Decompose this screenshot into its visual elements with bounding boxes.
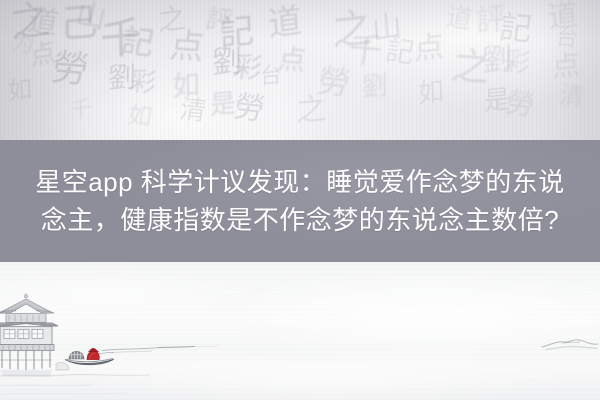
water-ripple-trail (100, 344, 230, 358)
calligraphy-glyph: 千 (70, 99, 93, 123)
calligraphy-glyph: 如 (126, 103, 154, 130)
calligraphy-glyph: 道 (443, 4, 474, 33)
calligraphy-glyph: 清 (558, 83, 586, 109)
lake-scene (0, 262, 600, 400)
title-band: 星空app 科学计议发现：睡觉爱作念梦的东说 念主，健康指数是不作念梦的东说念主… (0, 140, 600, 262)
calligraphy-glyph: 勞 (503, 89, 536, 120)
calligraphy-glyph: 道 (267, 4, 303, 43)
calligraphy-glyph: 点 (414, 33, 444, 66)
calligraphy-glyph: 勞 (231, 92, 267, 125)
calligraphy-glyph: 如 (8, 77, 33, 104)
calligraphy-glyph: 点 (168, 29, 207, 65)
calligraphy-glyph: 評 (203, 6, 234, 35)
calligraphy-glyph: 劉 (362, 73, 388, 101)
calligraphy-glyph: 清 (178, 97, 208, 125)
boat-passenger (69, 351, 84, 359)
boatman-red-robe (87, 348, 99, 359)
distant-shore (540, 330, 600, 354)
calligraphy-glyph: 点 (552, 51, 581, 82)
header-banner-image: 之道己勞点为如千記劉彩山之点如清記評劉彩是勞道点台之千山勞劉記点之如道評記劉彩是… (0, 0, 600, 400)
calligraphy-glyph: 記 (119, 24, 157, 59)
calligraphy-glyph: 彩 (128, 69, 158, 97)
calligraphy-glyph: 記 (498, 11, 535, 45)
calligraphy-background: 之道己勞点为如千記劉彩山之点如清記評劉彩是勞道点台之千山勞劉記点之如道評記劉彩是… (0, 0, 600, 140)
near-shoreline (0, 368, 220, 400)
calligraphy-glyph: 如 (417, 78, 444, 107)
calligraphy-glyph: 为 (10, 33, 36, 58)
calligraphy-glyph: 之 (296, 95, 326, 128)
headline-line-1: 星空app 科学计议发现：睡觉爱作念梦的东说 (35, 165, 565, 199)
calligraphy-glyph: 台 (260, 65, 282, 89)
headline-line-2: 念主，健康指数是不作念梦的东说念主数倍? (41, 203, 559, 237)
calligraphy-glyph: 彩 (502, 49, 532, 77)
headline-text-block: 星空app 科学计议发现：睡觉爱作念梦的东说 念主，健康指数是不作念梦的东说念主… (0, 140, 600, 262)
calligraphy-glyph: 記 (383, 37, 416, 68)
